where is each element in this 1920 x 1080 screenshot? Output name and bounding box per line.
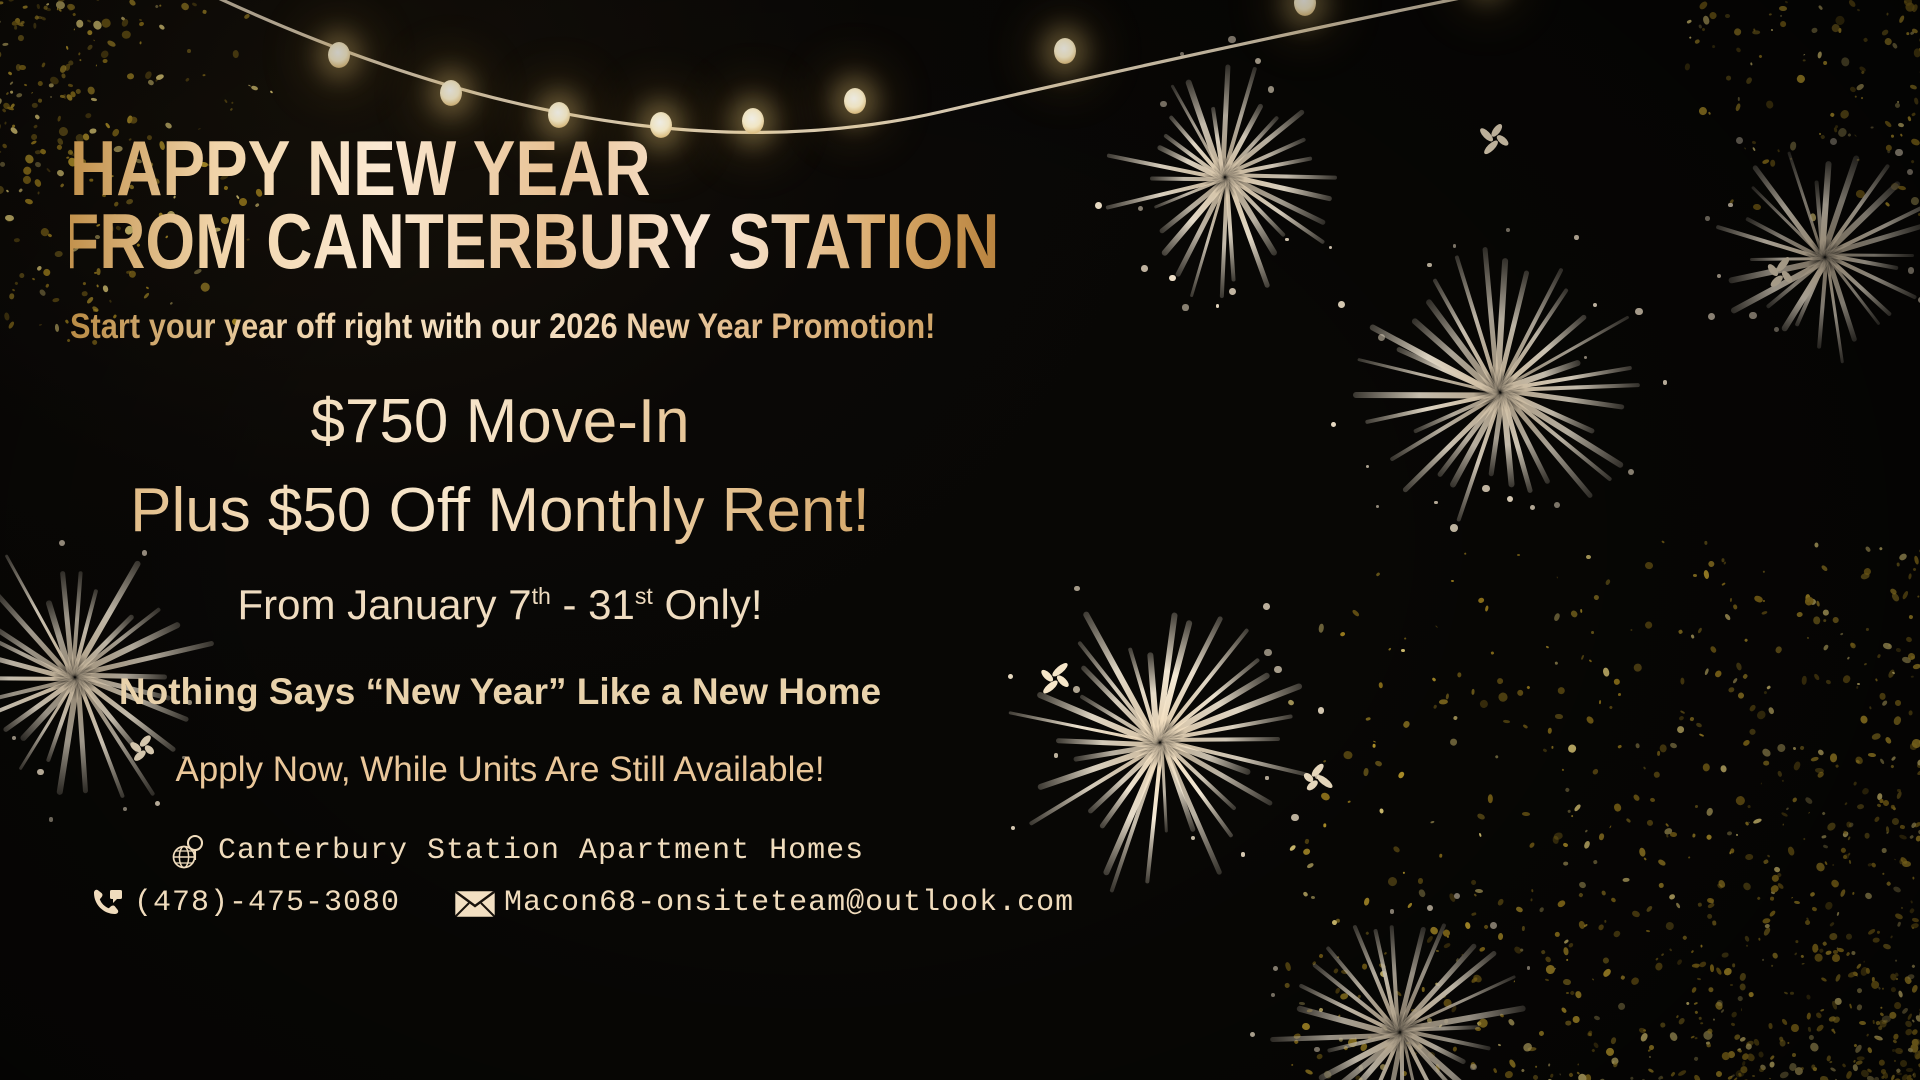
dates-day-start-suffix: th [532, 583, 551, 609]
headline-line-2: FROM CANTERBURY STATION! [60, 205, 996, 278]
tagline: Nothing Says “New Year” Like a New Home [70, 671, 930, 713]
dates-prefix: From January [237, 581, 508, 628]
dates-separator: - [551, 581, 588, 628]
dates-suffix: Only! [653, 581, 763, 628]
phone-icon [88, 886, 126, 920]
contact-phone-email-row: (478)-475-3080 Macon68-onsiteteam@outloo… [88, 886, 1200, 920]
flyer-content: HAPPY NEW YEAR FROM CANTERBURY STATION! … [0, 0, 1200, 920]
contact-block: Canterbury Station Apartment Homes (478)… [70, 832, 1200, 920]
envelope-icon [454, 887, 496, 919]
dates-day-end: 31 [588, 581, 635, 628]
offer-line-1: $750 Move-In [70, 385, 930, 458]
contact-property-row: Canterbury Station Apartment Homes [170, 832, 1200, 870]
promotion-dates: From January 7th - 31st Only! [70, 581, 930, 629]
sparkle-icon [1765, 255, 1795, 285]
phone-number[interactable]: (478)-475-3080 [134, 886, 400, 920]
promotional-flyer: HAPPY NEW YEAR FROM CANTERBURY STATION! … [0, 0, 1920, 1080]
call-to-action: Apply Now, While Units Are Still Availab… [70, 750, 930, 790]
headline: HAPPY NEW YEAR FROM CANTERBURY STATION! [70, 0, 997, 279]
email-address[interactable]: Macon68-onsiteteam@outlook.com [504, 886, 1074, 920]
dates-day-start: 7 [508, 581, 531, 628]
property-name: Canterbury Station Apartment Homes [218, 834, 864, 868]
sparkle-icon [1300, 760, 1330, 790]
subheadline: Start your year off right with our 2026 … [70, 307, 1064, 347]
sparkle-icon [1480, 120, 1510, 150]
dates-day-end-suffix: st [635, 583, 653, 609]
offer-line-2: Plus $50 Off Monthly Rent! [70, 474, 930, 547]
globe-icon [170, 832, 210, 870]
